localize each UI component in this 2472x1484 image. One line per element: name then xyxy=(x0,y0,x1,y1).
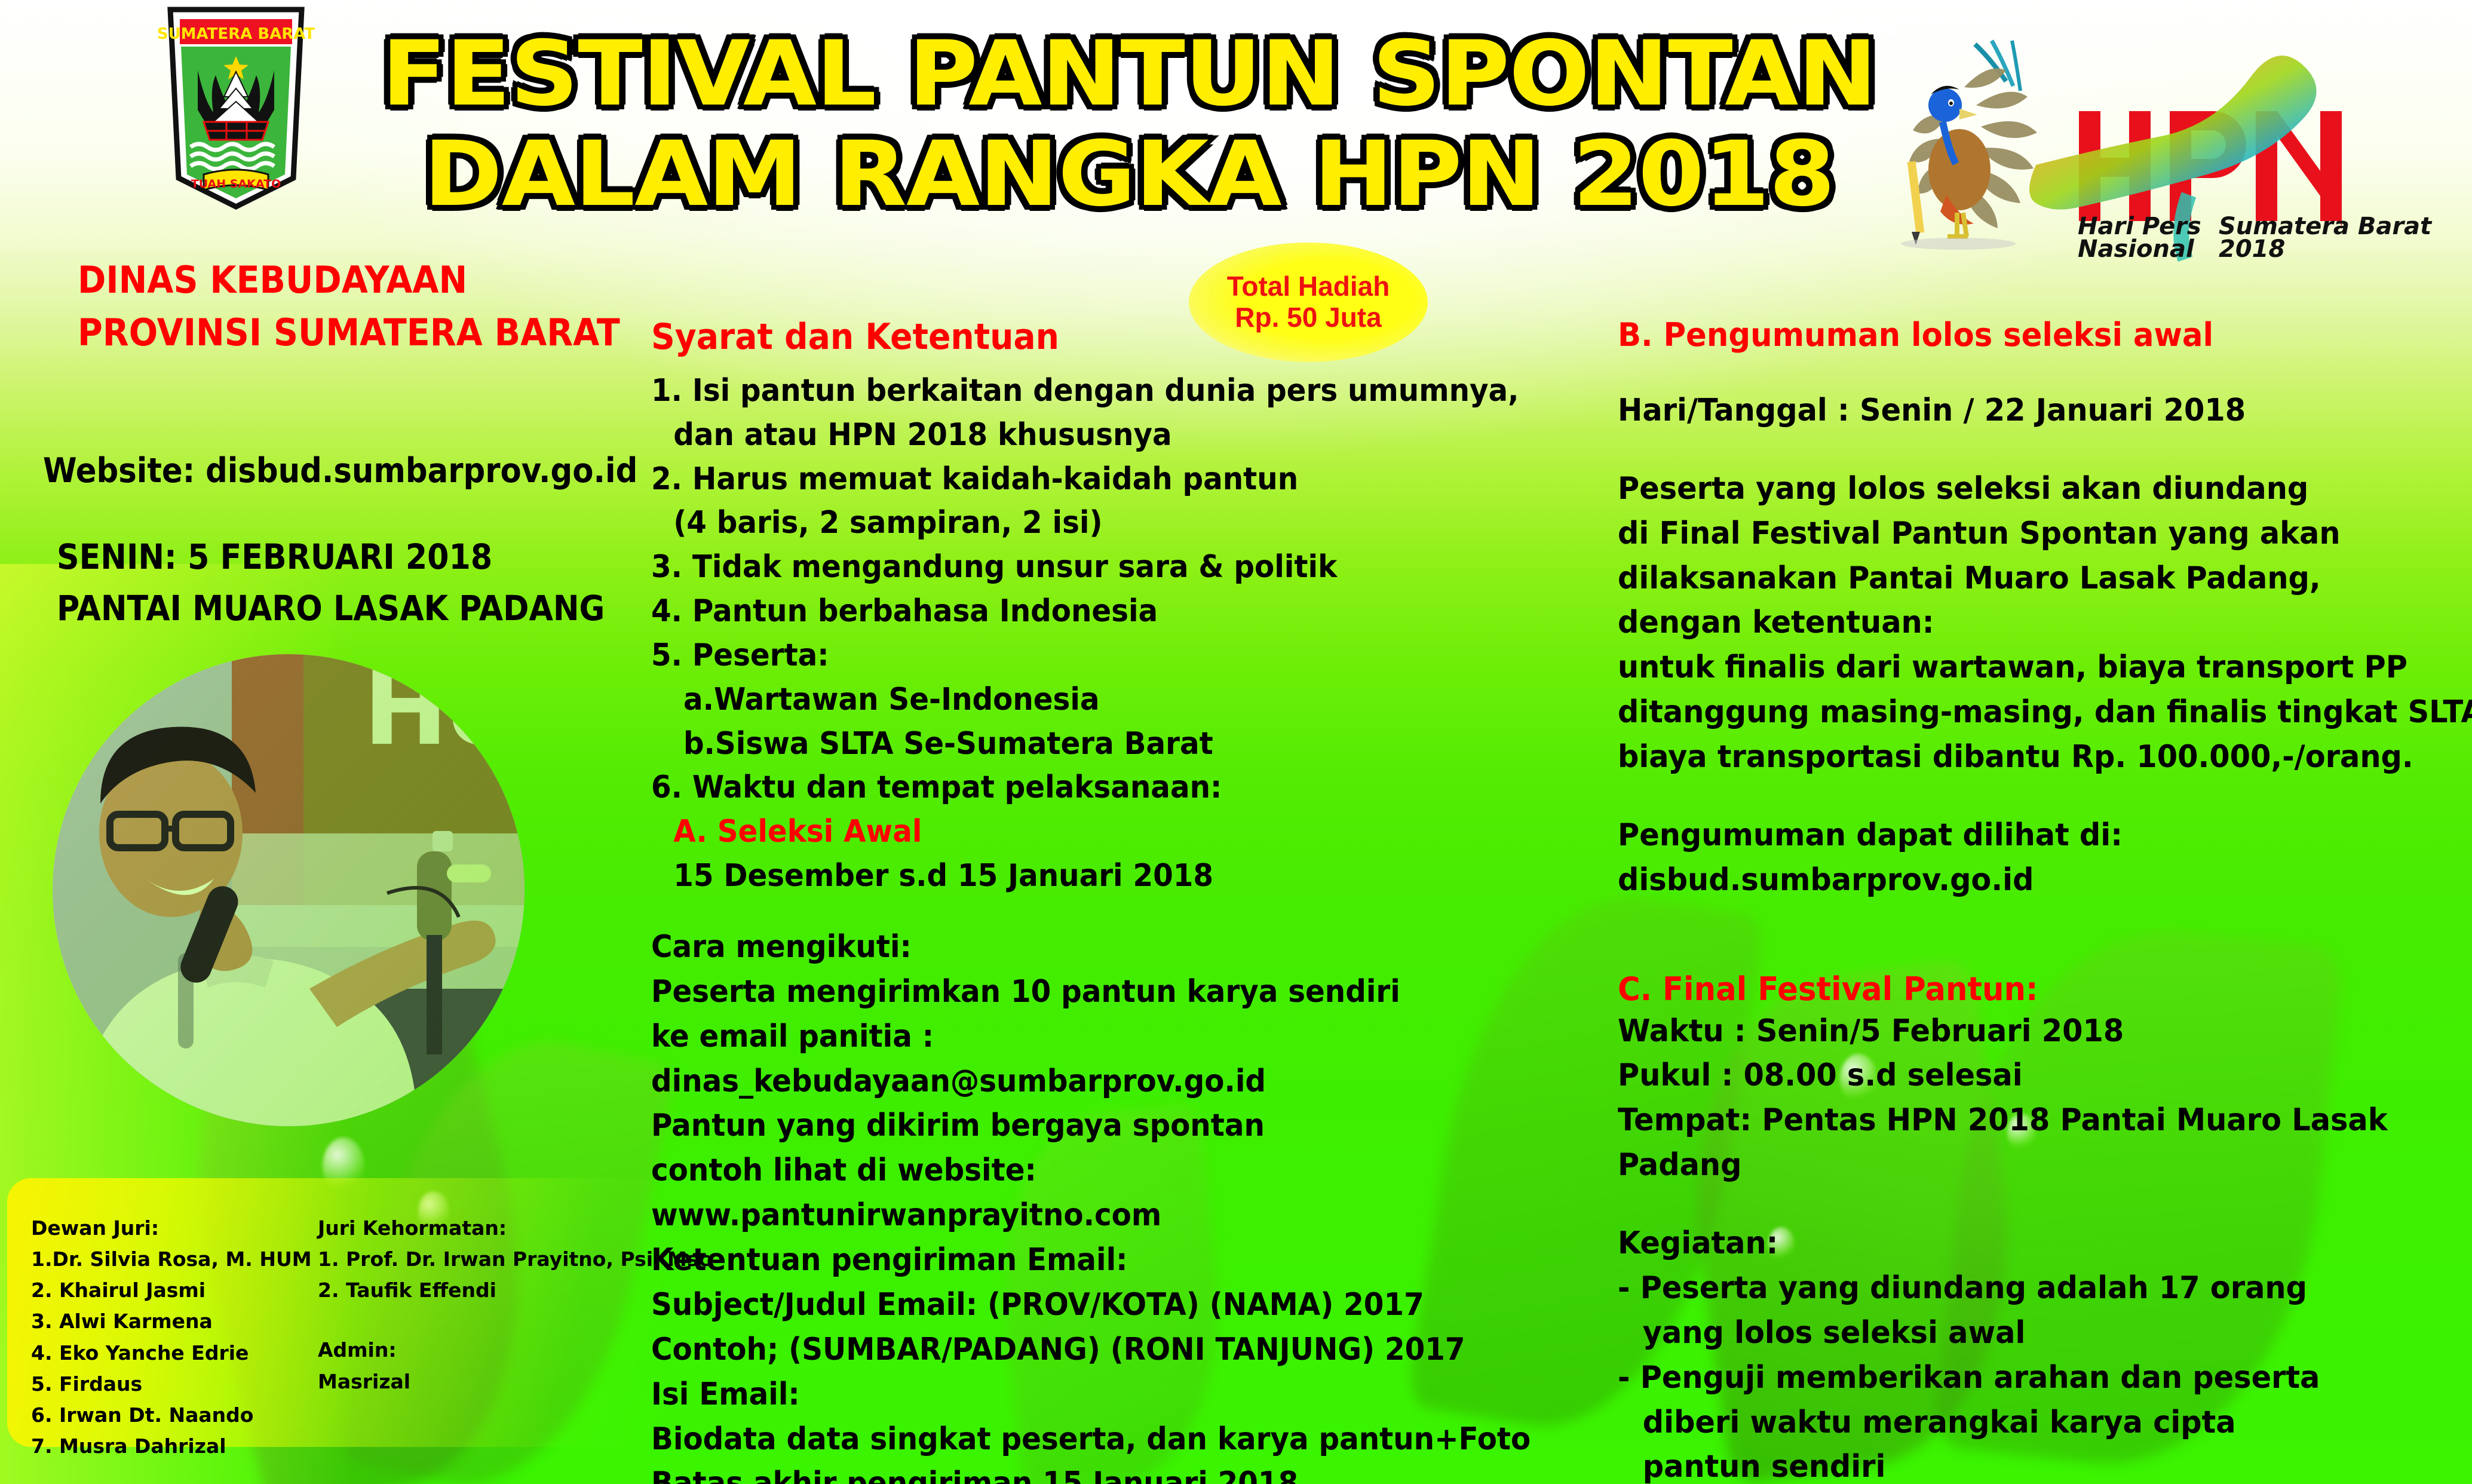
example-website: www.pantunirwanprayitno.com xyxy=(651,1193,1540,1238)
title-line-2: DALAM RANGKA HPN 2018 xyxy=(338,124,1921,225)
organizer-line-1: DINAS KEBUDAYAAN xyxy=(78,254,572,306)
page-title: FESTIVAL PANTUN SPONTAN DALAM RANGKA HPN… xyxy=(338,24,1921,225)
announcement-section: B. Pengumuman lolos seleksi awal Hari/Ta… xyxy=(1618,315,2466,1484)
admin-title: Admin: xyxy=(318,1335,664,1366)
how-line: Peserta mengirimkan 10 pantun karya send… xyxy=(651,970,1540,1014)
section-b-body-line: dilaksanakan Pantai Muaro Lasak Padang, xyxy=(1618,556,2424,601)
website-label: Website: disbud.sumbarprov.go.id xyxy=(43,451,570,490)
event-date-location: SENIN: 5 FEBRUARI 2018 PANTAI MUARO LASA… xyxy=(57,532,594,634)
terms-heading: Syarat dan Ketentuan xyxy=(651,315,1531,358)
list-item: 2. Harus memuat kaidah-kaidah pantun xyxy=(651,458,1540,502)
how-to-join-block: Cara mengikuti: Peserta mengirimkan 10 p… xyxy=(651,925,1607,1484)
kegiatan-item: diberi waktu merangkai karya cipta xyxy=(1618,1400,2424,1445)
how-line: Contoh; (SUMBAR/PADANG) (RONI TANJUNG) 2… xyxy=(651,1327,1540,1372)
jury-column-dewan: Dewan Juri: 1.Dr. Silvia Rosa, M. HUM 2.… xyxy=(31,1213,312,1462)
list-item: dan atau HPN 2018 khususnya xyxy=(651,413,1540,458)
how-line: Ketentuan pengiriman Email: xyxy=(651,1238,1540,1283)
announcement-line: Pengumuman dapat dilihat di: xyxy=(1618,813,2424,858)
list-item: a.Wartawan Se-Indonesia xyxy=(651,678,1540,722)
list-item: 7. Musra Dahrizal xyxy=(31,1431,312,1462)
list-item: 6. Irwan Dt. Naando xyxy=(31,1400,312,1431)
section-b-body-line: Peserta yang lolos seleksi akan diundang xyxy=(1618,467,2424,511)
section-b-body-line: di Final Festival Pantun Spontan yang ak… xyxy=(1618,511,2424,556)
list-item: 3. Tidak mengandung unsur sara & politik xyxy=(651,545,1540,590)
how-line: Biodata data singkat peserta, dan karya … xyxy=(651,1417,1540,1462)
prize-label: Total Hadiah xyxy=(1227,271,1390,302)
section-b-heading: B. Pengumuman lolos seleksi awal xyxy=(1618,315,2424,355)
kegiatan-title: Kegiatan: xyxy=(1618,1221,2424,1266)
list-item: Masrizal xyxy=(318,1366,664,1397)
sumatera-barat-crest-icon: SUMATERA BARAT TUAH SAKATO xyxy=(146,5,326,211)
title-line-1: FESTIVAL PANTUN SPONTAN xyxy=(338,24,1921,124)
list-item: 1. Isi pantun berkaitan dengan dunia per… xyxy=(651,369,1540,413)
spacer xyxy=(1618,1188,2466,1221)
hpn-text-line2: Nasional xyxy=(2078,235,2195,263)
section-c-venue-cont: Padang xyxy=(1618,1143,2424,1188)
speaker-photo: He xyxy=(53,654,525,1126)
list-item: 5. Peserta: xyxy=(651,634,1540,678)
kegiatan-item: yang lolos seleksi awal xyxy=(1618,1311,2424,1356)
section-b-body-line: ditanggung masing-masing, dan finalis ti… xyxy=(1618,690,2424,735)
terms-list: 1. Isi pantun berkaitan dengan dunia per… xyxy=(651,369,1607,899)
organizer-line-2: PROVINSI SUMATERA BARAT xyxy=(78,306,572,359)
how-line: Cara mengikuti: xyxy=(651,925,1540,970)
kegiatan-item: - Peserta yang diundang adalah 17 orang xyxy=(1618,1266,2424,1311)
seleksi-awal-heading: A. Seleksi Awal xyxy=(651,810,1540,854)
section-b-date: Hari/Tanggal : Senin / 22 Januari 2018 xyxy=(1618,388,2424,433)
list-item: 1. Prof. Dr. Irwan Prayitno, Psi, Msc xyxy=(318,1244,664,1275)
kegiatan-item: pantun sendiri xyxy=(1618,1445,2424,1484)
how-line: contoh lihat di website: xyxy=(651,1148,1540,1193)
peacock-icon xyxy=(1901,41,2037,250)
terms-section: Syarat dan Ketentuan 1. Isi pantun berka… xyxy=(651,315,1607,1484)
section-c-venue: Tempat: Pentas HPN 2018 Pantai Muaro Las… xyxy=(1618,1098,2424,1143)
how-line: Isi Email: xyxy=(651,1372,1540,1417)
committee-email: dinas_kebudayaan@sumbarprov.go.id xyxy=(651,1059,1540,1104)
spacer xyxy=(1618,433,2466,467)
crest-ribbon-text: TUAH SAKATO xyxy=(191,177,281,191)
list-item: 5. Firdaus xyxy=(31,1369,312,1400)
how-line: Subject/Judul Email: (PROV/KOTA) (NAMA) … xyxy=(651,1283,1540,1327)
list-item: 2. Khairul Jasmi xyxy=(31,1275,312,1306)
list-item: 15 Desember s.d 15 Januari 2018 xyxy=(651,854,1540,899)
photo-green-tint xyxy=(53,654,525,1126)
section-b-body-line: biaya transportasi dibantu Rp. 100.000,-… xyxy=(1618,735,2424,780)
event-location: PANTAI MUARO LASAK PADANG xyxy=(57,583,594,634)
spacer xyxy=(1618,780,2466,813)
crest-banner-text: SUMATERA BARAT xyxy=(157,25,315,43)
how-line: ke email panitia : xyxy=(651,1014,1540,1059)
list-item: 4. Eko Yanche Edrie xyxy=(31,1338,312,1369)
list-item: b.Siswa SLTA Se-Sumatera Barat xyxy=(651,722,1540,766)
list-item: 2. Taufik Effendi xyxy=(318,1275,664,1306)
spacer xyxy=(1618,936,2466,970)
hpn-text-line4: 2018 xyxy=(2219,235,2285,263)
spacer xyxy=(1618,355,2466,388)
spacer xyxy=(318,1306,664,1335)
juri-kehormatan-title: Juri Kehormatan: xyxy=(318,1213,664,1244)
hpn-logo: Hari Pers Nasional Sumatera Barat 2018 xyxy=(1857,16,2442,266)
list-item: 4. Pantun berbahasa Indonesia xyxy=(651,590,1540,634)
list-item: 6. Waktu dan tempat pelaksanaan: xyxy=(651,766,1540,810)
announcement-website: disbud.sumbarprov.go.id xyxy=(1618,858,2424,903)
section-b-body-line: dengan ketentuan: xyxy=(1618,600,2424,645)
list-item: 3. Alwi Karmena xyxy=(31,1306,312,1337)
organizer-name: DINAS KEBUDAYAAN PROVINSI SUMATERA BARAT xyxy=(78,254,572,359)
poster-canvas: SUMATERA BARAT TUAH SAKATO FESTIVAL PANT… xyxy=(0,0,2472,1484)
kegiatan-item: - Penguji memberikan arahan dan peserta xyxy=(1618,1356,2424,1400)
dewan-juri-title: Dewan Juri: xyxy=(31,1213,312,1244)
section-c-time: Waktu : Senin/5 Februari 2018 xyxy=(1618,1009,2424,1054)
jury-column-kehormatan: Juri Kehormatan: 1. Prof. Dr. Irwan Pray… xyxy=(318,1213,664,1397)
list-item: (4 baris, 2 sampiran, 2 isi) xyxy=(651,501,1540,545)
spacer xyxy=(1618,903,2466,936)
event-date: SENIN: 5 FEBRUARI 2018 xyxy=(57,532,594,583)
deadline-line: Batas akhir pengiriman 15 Januari 2018 xyxy=(651,1461,1540,1484)
list-item: 1.Dr. Silvia Rosa, M. HUM xyxy=(31,1244,312,1275)
section-b-body-line: untuk finalis dari wartawan, biaya trans… xyxy=(1618,645,2424,690)
section-c-hour: Pukul : 08.00 s.d selesai xyxy=(1618,1053,2424,1098)
section-c-heading: C. Final Festival Pantun: xyxy=(1618,970,2424,1009)
how-line: Pantun yang dikirim bergaya spontan xyxy=(651,1103,1540,1148)
